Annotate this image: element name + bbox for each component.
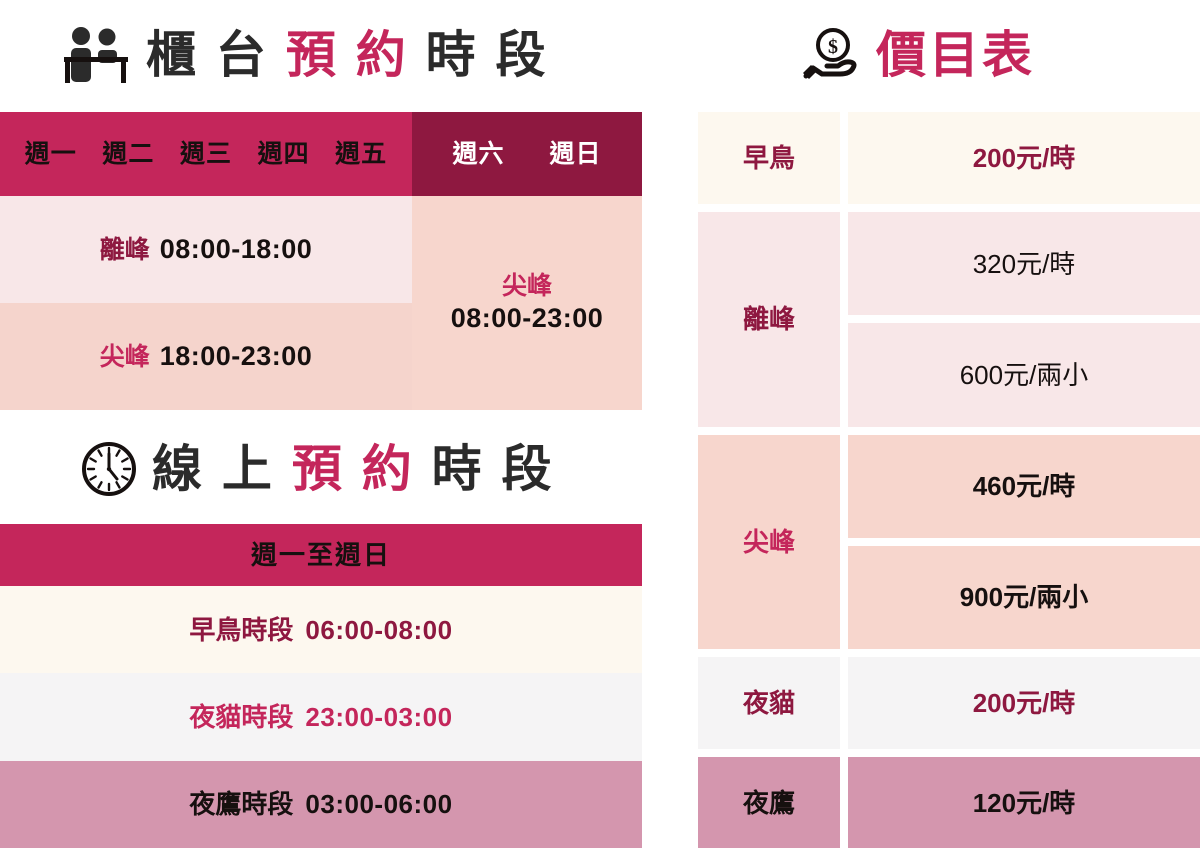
counter-heading-prefix: 櫃 台 xyxy=(146,27,269,83)
day-header-fri: 週五 xyxy=(335,142,387,167)
price-column-gap xyxy=(840,112,848,204)
svg-text:$: $ xyxy=(828,36,838,58)
online-schedule-table: 週一至週日 早鳥時段 06:00-08:00 夜貓時段 23:00-03:00 … xyxy=(0,524,642,848)
counter-schedule-table: 週一 週二 週三 週四 週五 週六 週日 離峰 08:00-18:00 尖峰 1… xyxy=(0,112,642,410)
price-group-peak: 尖峰 460元/時 900元/兩小 xyxy=(698,435,1200,650)
price-section-heading: $ 價目表 xyxy=(800,26,1140,88)
price-value-night-cat-hourly: 200元/時 xyxy=(848,657,1200,749)
day-header-sat: 週六 xyxy=(452,142,504,167)
online-early-tag: 早鳥時段 xyxy=(189,617,293,643)
counter-heading-suffix: 時 段 xyxy=(426,27,549,83)
online-early-time: 06:00-08:00 xyxy=(305,617,452,643)
weekday-peak-tag: 尖峰 xyxy=(100,345,150,370)
weekend-peak-cell: 尖峰 08:00-23:00 xyxy=(412,196,642,410)
weekday-peak-cell: 尖峰 18:00-23:00 xyxy=(0,303,412,410)
pricing-schedule-poster: 櫃 台 預 約 時 段 週一 週二 週三 週四 週五 週六 週日 離峰 08:0… xyxy=(0,0,1200,848)
price-table: 早鳥 200元/時 離峰 320元/時 600元/兩小 尖峰 460元/時 90… xyxy=(698,112,1200,848)
online-heading-prefix: 線 上 xyxy=(152,441,275,497)
price-column-gap xyxy=(840,757,848,848)
weekday-offpeak-time: 08:00-18:00 xyxy=(160,236,313,263)
price-value-early-bird-hourly: 200元/時 xyxy=(848,112,1200,204)
weekday-header-row: 週一 週二 週三 週四 週五 xyxy=(0,112,412,196)
weekend-peak-tag: 尖峰 xyxy=(502,274,552,299)
price-label-night-hawk: 夜鷹 xyxy=(698,757,840,848)
counter-section-heading: 櫃 台 預 約 時 段 xyxy=(60,26,580,88)
online-table-header: 週一至週日 xyxy=(0,524,642,586)
day-header-wed: 週三 xyxy=(180,142,232,167)
online-heading-highlight: 預 約 xyxy=(292,441,415,497)
price-value-offpeak-hourly: 320元/時 xyxy=(848,212,1200,315)
price-group-offpeak: 離峰 320元/時 600元/兩小 xyxy=(698,212,1200,427)
online-header-label: 週一至週日 xyxy=(251,542,391,568)
price-group-night-cat: 夜貓 200元/時 xyxy=(698,657,1200,749)
weekday-offpeak-cell: 離峰 08:00-18:00 xyxy=(0,196,412,303)
price-column-gap xyxy=(840,435,848,650)
weekend-header-row: 週六 週日 xyxy=(412,112,642,196)
clock-icon xyxy=(80,440,138,498)
online-nighthawk-tag: 夜鷹時段 xyxy=(189,791,293,817)
online-heading-text: 線 上 預 約 時 段 xyxy=(152,444,555,494)
weekend-peak-time: 08:00-23:00 xyxy=(451,305,604,332)
day-header-thu: 週四 xyxy=(258,142,310,167)
counter-heading-text: 櫃 台 預 約 時 段 xyxy=(146,30,549,80)
reception-desk-icon xyxy=(60,26,132,84)
price-group-night-hawk: 夜鷹 120元/時 xyxy=(698,757,1200,848)
price-value-peak-twohour: 900元/兩小 xyxy=(848,546,1200,649)
price-label-early-bird: 早鳥 xyxy=(698,112,840,204)
price-column-gap xyxy=(840,657,848,749)
price-value-offpeak-twohour: 600元/兩小 xyxy=(848,323,1200,426)
price-group-early-bird: 早鳥 200元/時 xyxy=(698,112,1200,204)
price-column-gap xyxy=(840,212,848,427)
online-row-early-bird: 早鳥時段 06:00-08:00 xyxy=(0,586,642,673)
day-header-tue: 週二 xyxy=(102,142,154,167)
price-label-offpeak: 離峰 xyxy=(698,212,840,427)
price-value-night-hawk-hourly: 120元/時 xyxy=(848,757,1200,848)
online-nighthawk-time: 03:00-06:00 xyxy=(305,791,452,817)
weekday-offpeak-tag: 離峰 xyxy=(100,238,150,263)
online-section-heading: 線 上 預 約 時 段 xyxy=(80,440,600,502)
online-nightcat-tag: 夜貓時段 xyxy=(189,704,293,730)
online-row-night-cat: 夜貓時段 23:00-03:00 xyxy=(0,673,642,760)
online-heading-suffix: 時 段 xyxy=(432,441,555,497)
online-row-night-hawk: 夜鷹時段 03:00-06:00 xyxy=(0,761,642,848)
price-value-peak-hourly: 460元/時 xyxy=(848,435,1200,538)
day-header-mon: 週一 xyxy=(25,142,77,167)
price-heading-text: 價目表 xyxy=(876,30,1035,80)
price-label-night-cat: 夜貓 xyxy=(698,657,840,749)
counter-heading-highlight: 預 約 xyxy=(286,27,409,83)
price-label-peak: 尖峰 xyxy=(698,435,840,650)
hand-holding-coin-icon: $ xyxy=(800,26,862,84)
day-header-sun: 週日 xyxy=(549,142,601,167)
online-nightcat-time: 23:00-03:00 xyxy=(305,704,452,730)
weekday-peak-time: 18:00-23:00 xyxy=(160,343,313,370)
